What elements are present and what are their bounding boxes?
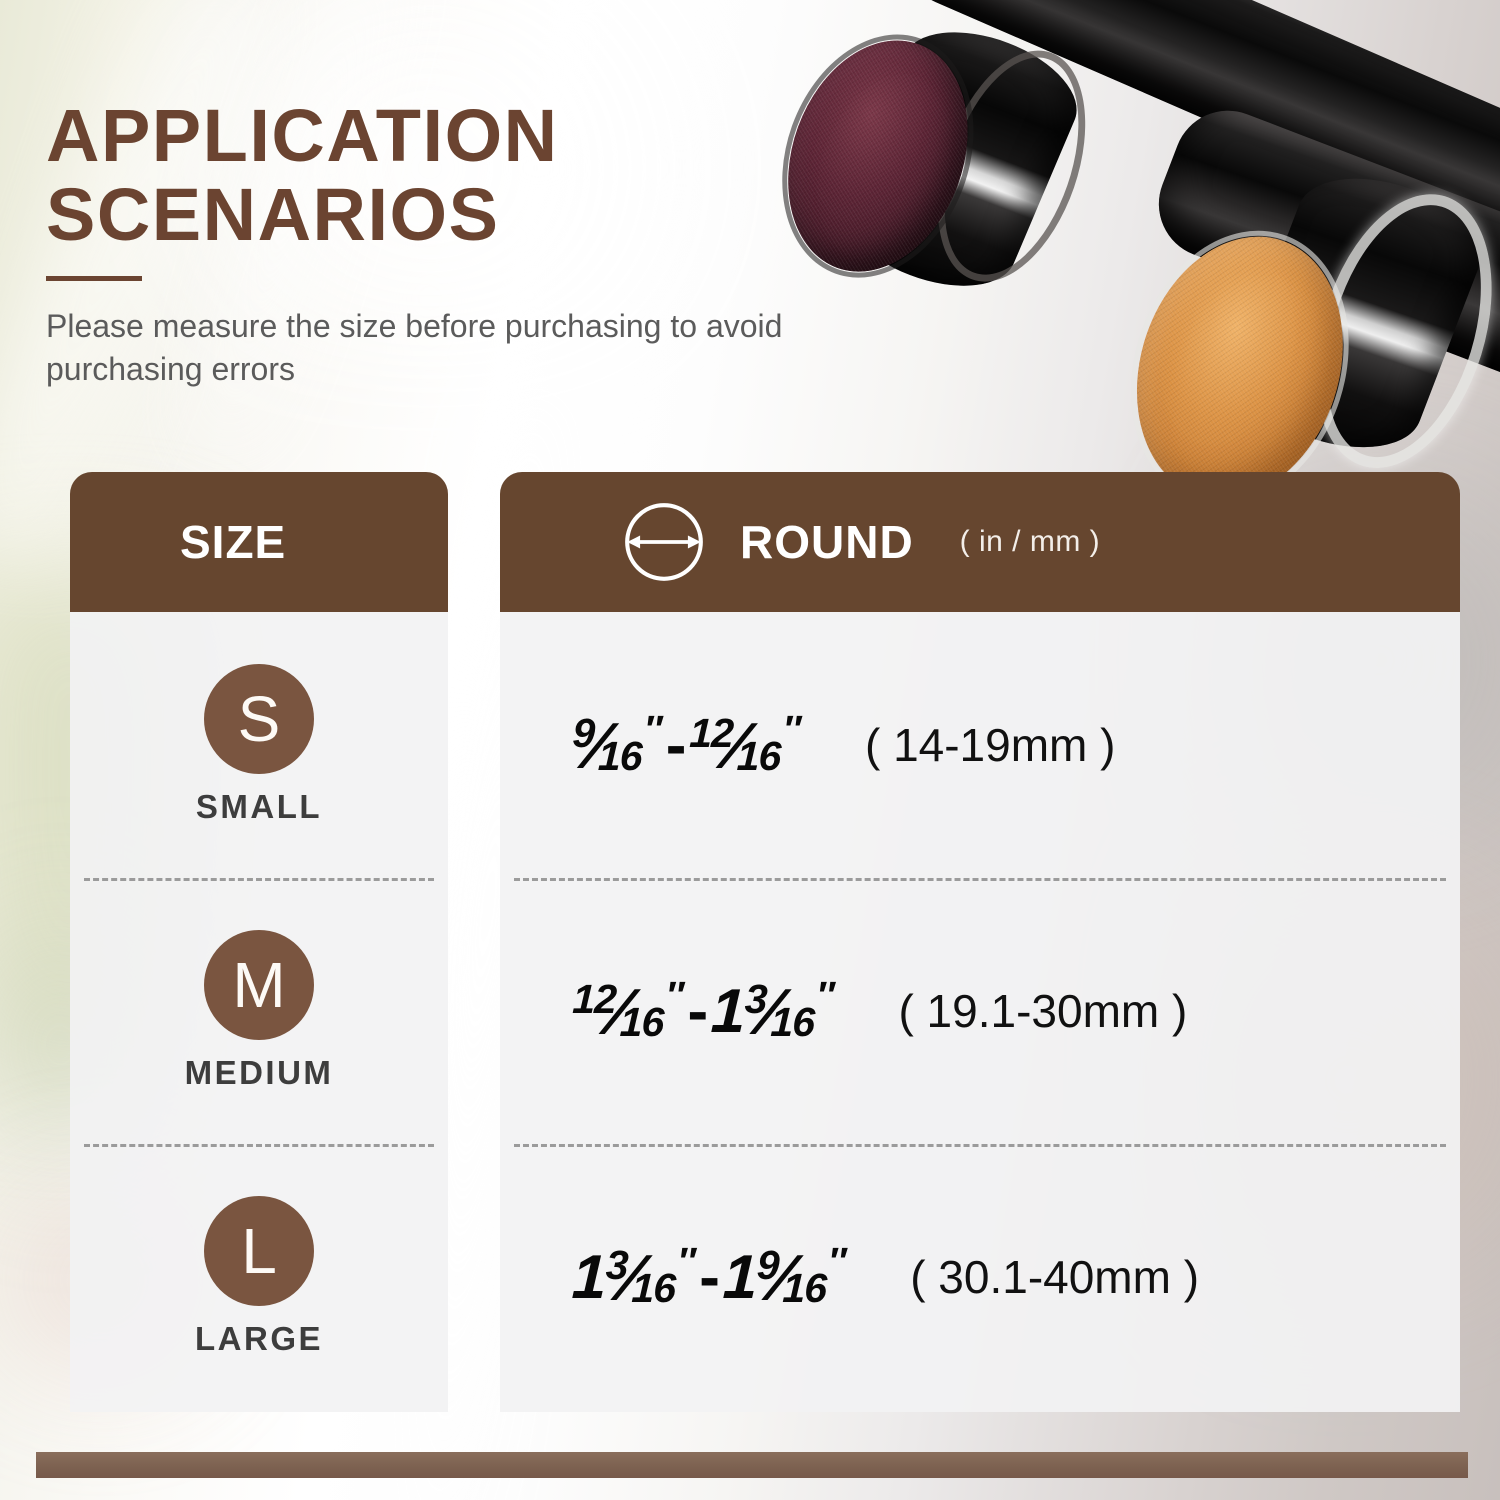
whole-number: 1 — [710, 976, 746, 1047]
range-separator: - — [688, 976, 708, 1047]
inch-mark: ″ — [666, 974, 683, 1018]
size-chart-table: SIZE ROUND ( in / mm ) S — [70, 472, 1460, 1412]
size-name-medium: MEDIUM — [185, 1054, 334, 1092]
metric-range-medium: ( 19.1-30mm ) — [898, 984, 1187, 1038]
fraction-from: 13⁄16 — [571, 1240, 677, 1315]
size-column-body: S SMALL M MEDIUM L LARGE — [70, 612, 448, 1412]
infographic-page: APPLICATION SCENARIOS Please measure the… — [0, 0, 1500, 1500]
table-row: L LARGE — [70, 1144, 448, 1410]
numerator: 3 — [744, 975, 767, 1022]
denominator: 16 — [736, 732, 781, 779]
title-accent-rule — [46, 276, 142, 281]
round-column-label: ROUND — [740, 515, 914, 569]
round-column-unit: ( in / mm ) — [960, 525, 1101, 559]
numerator: 9 — [572, 709, 595, 756]
inch-mark: ″ — [677, 1240, 694, 1284]
metric-range-small: ( 14-19mm ) — [865, 718, 1115, 772]
size-name-large: LARGE — [195, 1320, 323, 1358]
size-badge-large: L — [204, 1196, 314, 1306]
table-header-size: SIZE — [70, 472, 448, 612]
size-badge-small: S — [204, 664, 314, 774]
title-block: APPLICATION SCENARIOS Please measure the… — [46, 96, 806, 391]
imperial-range-small: 9⁄16 ″ - 12⁄16 ″ — [572, 708, 801, 783]
table-row: 13⁄16 ″ - 19⁄16 ″ ( 30.1-40mm ) — [500, 1144, 1460, 1410]
table-row: M MEDIUM — [70, 878, 448, 1144]
table-body-row: S SMALL M MEDIUM L LARGE 9⁄16 — [70, 612, 1460, 1412]
fraction-to: 19⁄16 — [721, 1240, 827, 1315]
imperial-range-medium: 12⁄16 ″ - 13⁄16 ″ — [572, 974, 834, 1049]
imperial-range-large: 13⁄16 ″ - 19⁄16 ″ — [572, 1240, 846, 1315]
page-title-line-2: SCENARIOS — [46, 175, 806, 254]
fraction-to: 13⁄16 — [710, 974, 816, 1049]
size-badge-medium: M — [204, 930, 314, 1040]
table-header-row: SIZE ROUND ( in / mm ) — [70, 472, 1460, 612]
range-separator: - — [699, 1242, 719, 1313]
whole-number: 1 — [571, 1242, 607, 1313]
inch-mark: ″ — [816, 974, 833, 1018]
round-column-body: 9⁄16 ″ - 12⁄16 ″ ( 14-19mm ) 12⁄1 — [500, 612, 1460, 1412]
numerator: 9 — [756, 1241, 779, 1288]
numerator: 12 — [689, 709, 734, 756]
fraction-to: 12⁄16 — [688, 708, 782, 783]
page-subtitle: Please measure the size before purchasin… — [46, 305, 806, 391]
inch-mark: ″ — [644, 708, 661, 752]
numerator: 3 — [605, 1241, 628, 1288]
range-separator: - — [666, 710, 686, 781]
fraction-from: 12⁄16 — [571, 974, 665, 1049]
fraction-from: 9⁄16 — [571, 708, 644, 783]
table-header-round: ROUND ( in / mm ) — [500, 472, 1460, 612]
metric-range-large: ( 30.1-40mm ) — [910, 1250, 1199, 1304]
denominator: 16 — [597, 732, 642, 779]
product-photo — [700, 0, 1500, 470]
table-row: 12⁄16 ″ - 13⁄16 ″ ( 19.1-30mm ) — [500, 878, 1460, 1144]
size-column-label: SIZE — [180, 515, 286, 569]
denominator: 16 — [770, 998, 815, 1045]
denominator: 16 — [781, 1264, 826, 1311]
denominator: 16 — [631, 1264, 676, 1311]
inch-mark: ″ — [783, 708, 800, 752]
footer-bar — [36, 1452, 1468, 1478]
numerator: 12 — [572, 975, 617, 1022]
inch-mark: ″ — [828, 1240, 845, 1284]
whole-number: 1 — [721, 1242, 757, 1313]
denominator: 16 — [619, 998, 664, 1045]
table-row: S SMALL — [70, 612, 448, 878]
size-name-small: SMALL — [196, 788, 322, 826]
page-title-line-1: APPLICATION — [46, 96, 806, 175]
circle-diameter-icon — [618, 496, 710, 588]
table-row: 9⁄16 ″ - 12⁄16 ″ ( 14-19mm ) — [500, 612, 1460, 878]
